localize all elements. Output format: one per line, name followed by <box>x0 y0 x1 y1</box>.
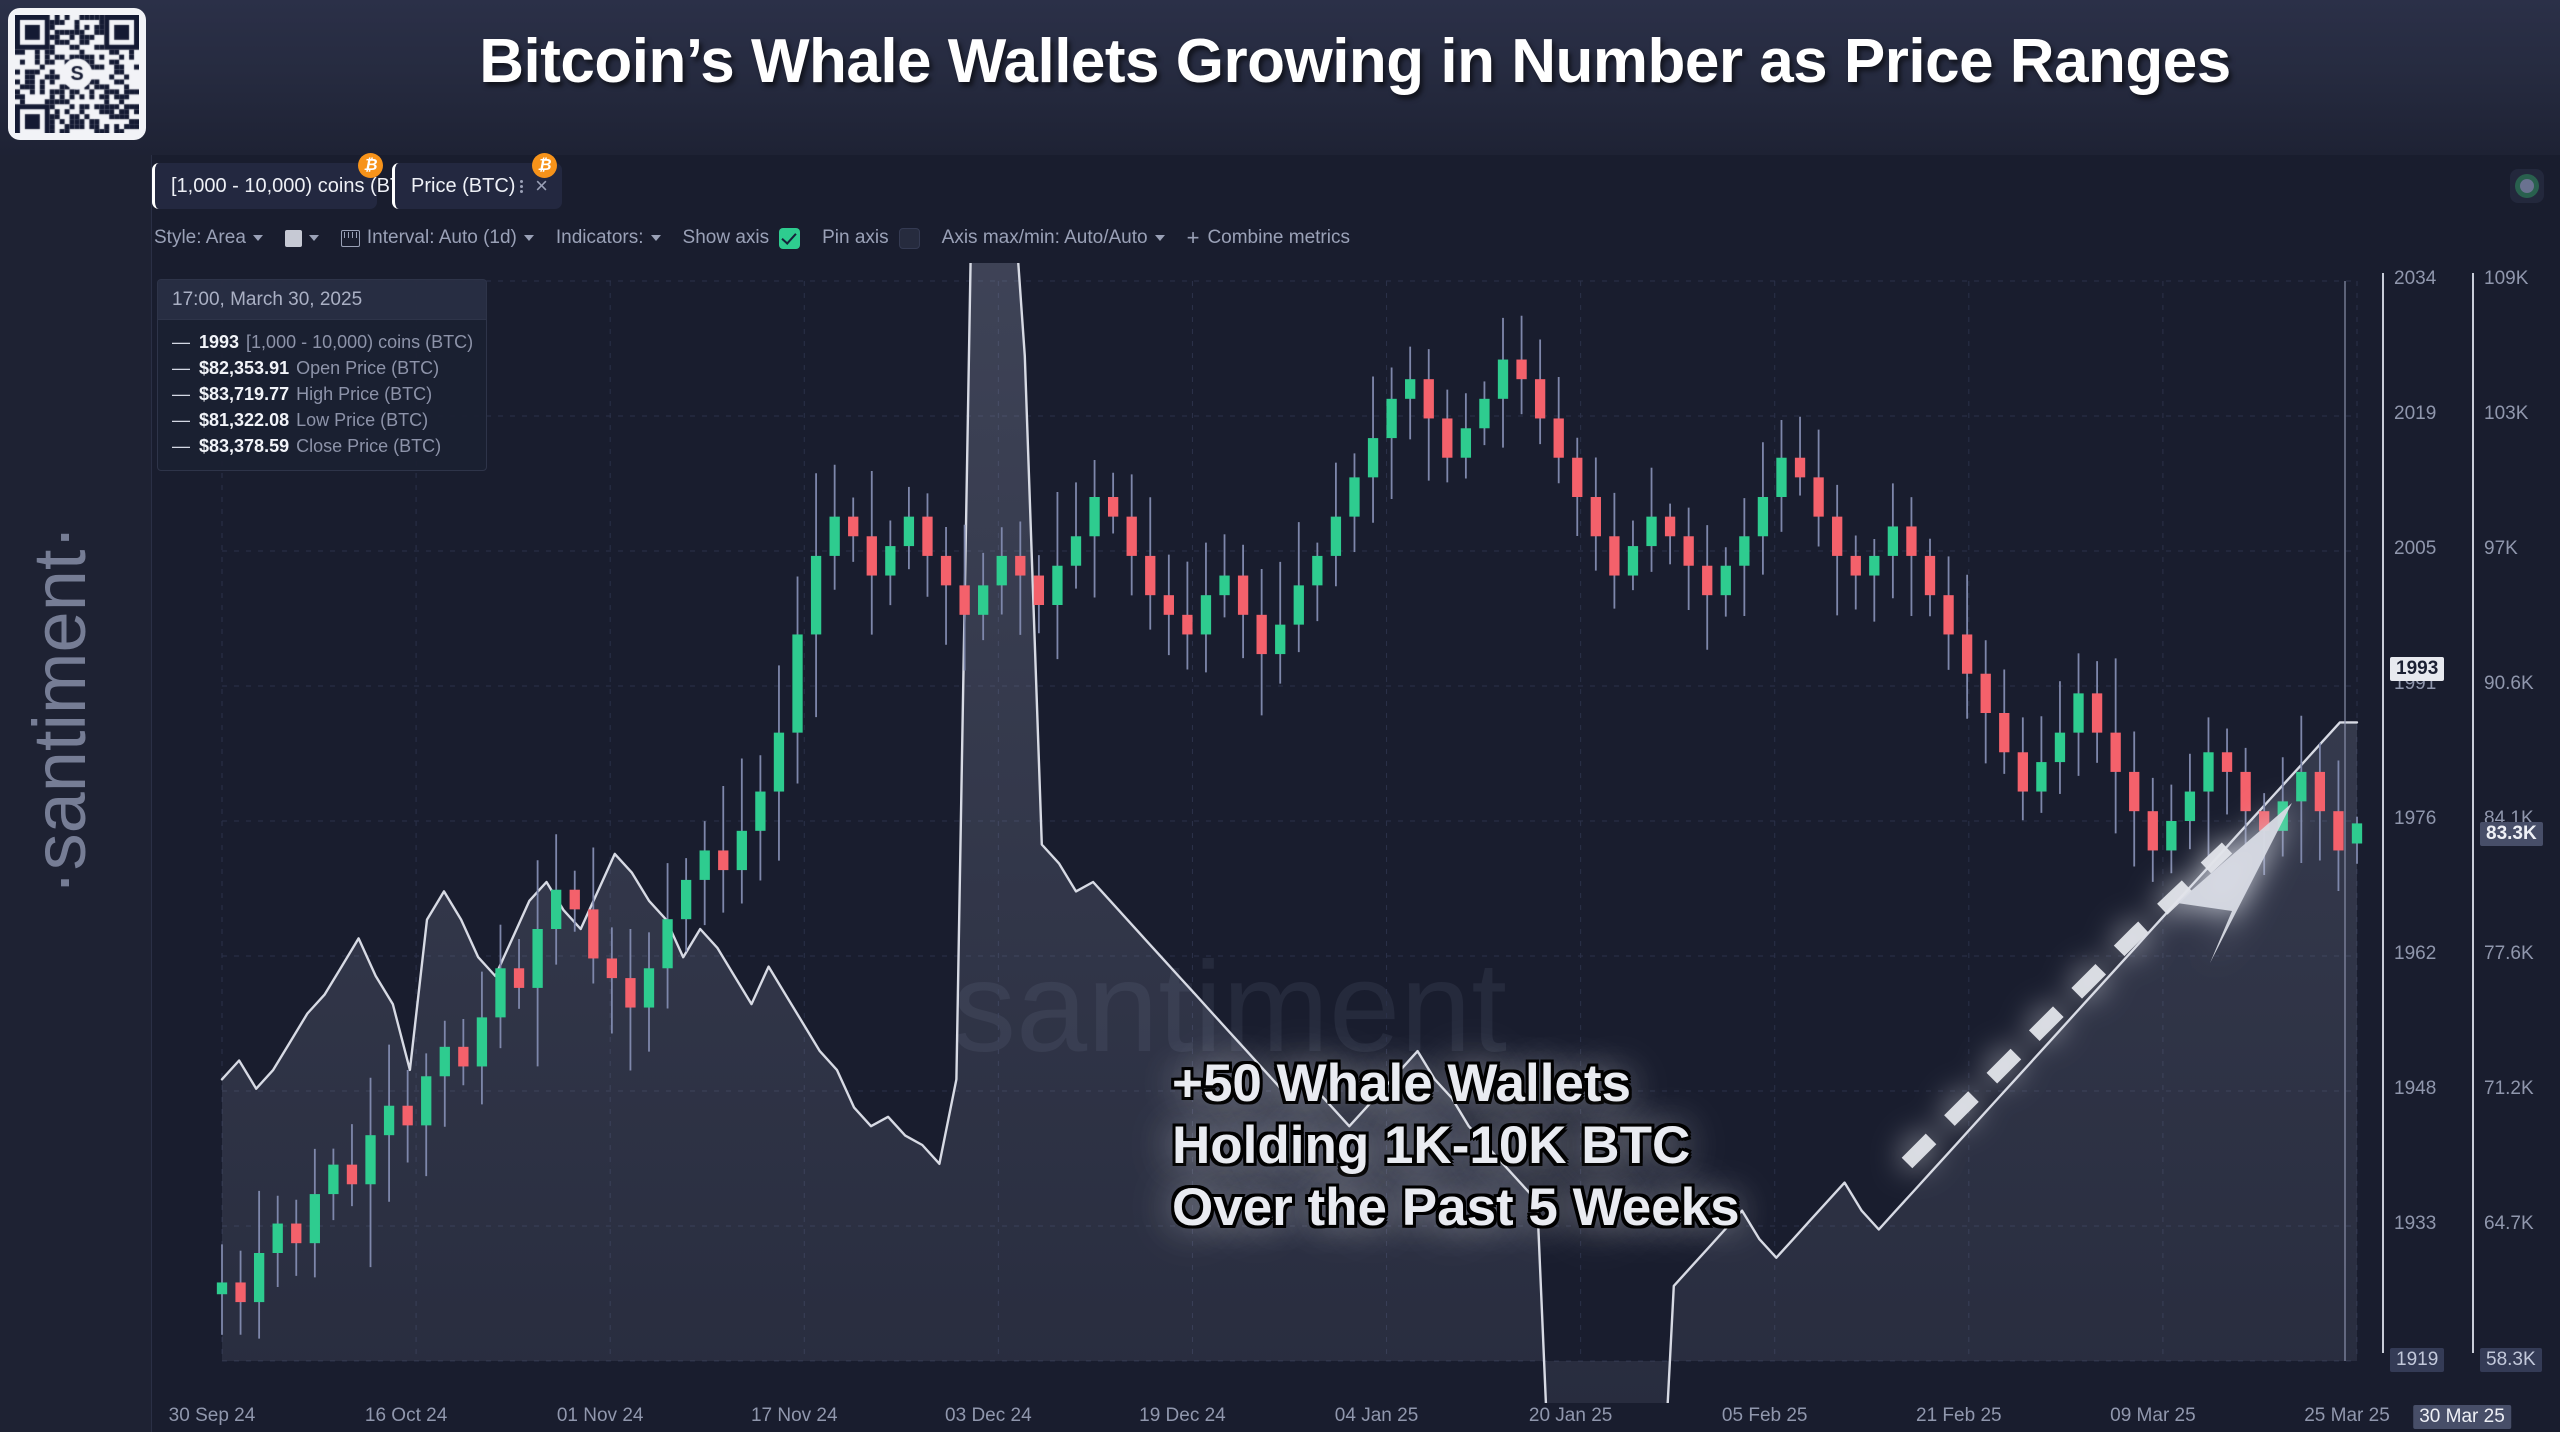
axis-spine <box>2472 273 2474 1353</box>
series-dash-icon: — <box>172 329 190 355</box>
tooltip-label: [1,000 - 10,000) coins (BTC) <box>246 329 473 355</box>
tooltip-value: $83,378.59 <box>199 433 289 459</box>
checkbox-unchecked-icon[interactable] <box>899 228 920 249</box>
axis-tick-label: 01 Nov 24 <box>557 1405 644 1427</box>
chart-area[interactable]: santiment 17:00, March 30, 2025 —1993[1,… <box>152 263 2560 1432</box>
axis-tick-label: 1933 <box>2394 1213 2436 1235</box>
axis-cursor-value: 1993 <box>2390 657 2444 681</box>
axis-tick-label: 1919 <box>2390 1348 2444 1372</box>
record-indicator-icon[interactable] <box>2510 169 2544 203</box>
chart-tooltip: 17:00, March 30, 2025 —1993[1,000 - 10,0… <box>157 279 487 471</box>
axis-tick-label: 30 Sep 24 <box>169 1405 256 1427</box>
checkbox-checked-icon[interactable] <box>779 228 800 249</box>
bitcoin-badge-icon: ₿ <box>532 153 557 178</box>
page-header: Bitcoin’s Whale Wallets Growing in Numbe… <box>0 0 2560 155</box>
axis-tick-label: 77.6K <box>2484 943 2534 965</box>
chevron-down-icon <box>309 235 319 241</box>
indicators-dropdown[interactable]: Indicators: <box>556 227 661 249</box>
plot-svg <box>162 263 2372 1403</box>
page-title: Bitcoin’s Whale Wallets Growing in Numbe… <box>160 22 2550 102</box>
color-dropdown[interactable] <box>285 230 319 247</box>
axis-tick-label: 21 Feb 25 <box>1916 1405 2002 1427</box>
show-axis-toggle[interactable]: Show axis <box>683 227 801 249</box>
tooltip-value: $81,322.08 <box>199 407 289 433</box>
axis-tick-label: 25 Mar 25 <box>2304 1405 2390 1427</box>
tooltip-row: —1993[1,000 - 10,000) coins (BTC) <box>172 329 472 355</box>
axis-tick-label: 04 Jan 25 <box>1335 1405 1418 1427</box>
chevron-down-icon <box>524 235 534 241</box>
y-axis-wallets[interactable]: 2034201920051991197619621948193319191993 <box>2382 263 2470 1403</box>
tooltip-timestamp: 17:00, March 30, 2025 <box>158 280 486 320</box>
show-axis-label: Show axis <box>683 227 770 249</box>
interval-label: Interval: Auto (1d) <box>367 227 517 249</box>
pin-axis-label: Pin axis <box>822 227 889 249</box>
tooltip-label: Close Price (BTC) <box>296 433 441 459</box>
tooltip-value: 1993 <box>199 329 239 355</box>
axis-tick-label: 2005 <box>2394 538 2436 560</box>
combine-metrics-button[interactable]: + Combine metrics <box>1187 225 1350 251</box>
axis-tick-label: 71.2K <box>2484 1078 2534 1100</box>
axis-tick-label: 58.3K <box>2480 1348 2542 1372</box>
axis-tick-label: 1976 <box>2394 808 2436 830</box>
axis-tick-label: 19 Dec 24 <box>1139 1405 1226 1427</box>
tooltip-label: High Price (BTC) <box>296 381 432 407</box>
axis-tick-label: 17 Nov 24 <box>751 1405 838 1427</box>
tooltip-value: $82,353.91 <box>199 355 289 381</box>
bitcoin-badge-icon: ₿ <box>358 153 383 178</box>
axis-tick-label: 1962 <box>2394 943 2436 965</box>
series-dash-icon: — <box>172 355 190 381</box>
chevron-down-icon <box>651 235 661 241</box>
axis-tick-label: 09 Mar 25 <box>2110 1405 2196 1427</box>
chart-panel: [1,000 - 10,000) coins (BTC) × ₿ Price (… <box>152 155 2560 1432</box>
tab-label: [1,000 - 10,000) coins (BTC) <box>171 175 423 198</box>
tooltip-label: Low Price (BTC) <box>296 407 428 433</box>
chart-toolbar: Style: Area Interval: Auto (1d) Indicato… <box>152 217 2560 259</box>
axis-minmax-dropdown[interactable]: Axis max/min: Auto/Auto <box>942 227 1165 249</box>
interval-icon <box>341 230 360 247</box>
axis-tick-label: 1948 <box>2394 1078 2436 1100</box>
style-dropdown[interactable]: Style: Area <box>154 227 263 249</box>
left-rail: ·santiment· <box>0 155 152 1432</box>
indicators-label: Indicators: <box>556 227 644 249</box>
chevron-down-icon <box>1155 235 1165 241</box>
tooltip-row: —$81,322.08Low Price (BTC) <box>172 407 472 433</box>
axis-tick-label: 97K <box>2484 538 2518 560</box>
tab-menu-icon[interactable] <box>515 178 527 195</box>
plot-canvas[interactable] <box>162 263 2372 1432</box>
axis-tick-label: 20 Jan 25 <box>1529 1405 1612 1427</box>
axis-tick-label: 05 Feb 25 <box>1722 1405 1808 1427</box>
rail-watermark: ·santiment· <box>15 500 105 920</box>
axis-tick-label: 103K <box>2484 403 2528 425</box>
tab-wallets-metric[interactable]: [1,000 - 10,000) coins (BTC) × <box>152 163 377 209</box>
axis-minmax-label: Axis max/min: Auto/Auto <box>942 227 1148 249</box>
combine-metrics-label: Combine metrics <box>1207 227 1350 249</box>
axis-tick-label: 64.7K <box>2484 1213 2534 1235</box>
interval-dropdown[interactable]: Interval: Auto (1d) <box>341 227 534 249</box>
x-axis[interactable]: 30 Sep 2416 Oct 2401 Nov 2417 Nov 2403 D… <box>152 1405 2560 1432</box>
chevron-down-icon <box>253 235 263 241</box>
series-dash-icon: — <box>172 407 190 433</box>
tab-label: Price (BTC) <box>411 175 515 198</box>
series-dash-icon: — <box>172 381 190 407</box>
axis-tick-label: 03 Dec 24 <box>945 1405 1032 1427</box>
tooltip-row: —$83,378.59Close Price (BTC) <box>172 433 472 459</box>
axis-tick-label: 2034 <box>2394 268 2436 290</box>
axis-tick-label: 109K <box>2484 268 2528 290</box>
tooltip-row: —$82,353.91Open Price (BTC) <box>172 355 472 381</box>
axis-cursor-value: 83.3K <box>2480 822 2543 846</box>
pin-axis-toggle[interactable]: Pin axis <box>822 227 920 249</box>
tooltip-value: $83,719.77 <box>199 381 289 407</box>
axis-tick-label: 2019 <box>2394 403 2436 425</box>
axis-spine <box>2382 273 2384 1353</box>
axis-tick-label: 16 Oct 24 <box>365 1405 447 1427</box>
series-dash-icon: — <box>172 433 190 459</box>
axis-cursor-date: 30 Mar 25 <box>2413 1405 2511 1429</box>
tooltip-row: —$83,719.77High Price (BTC) <box>172 381 472 407</box>
metric-tab-bar: [1,000 - 10,000) coins (BTC) × ₿ Price (… <box>152 155 2560 217</box>
tooltip-label: Open Price (BTC) <box>296 355 439 381</box>
color-swatch-icon <box>285 230 302 247</box>
qr-code[interactable] <box>8 8 146 140</box>
tooltip-rows: —1993[1,000 - 10,000) coins (BTC)—$82,35… <box>158 320 486 470</box>
qr-code-canvas <box>15 15 139 133</box>
axis-tick-label: 90.6K <box>2484 673 2534 695</box>
plus-icon: + <box>1187 225 1200 251</box>
style-label: Style: Area <box>154 227 246 249</box>
y-axis-price[interactable]: 109K103K97K90.6K84.1K77.6K71.2K64.7K58.3… <box>2472 263 2560 1403</box>
app-body: ·santiment· [1,000 - 10,000) coins (BTC)… <box>0 155 2560 1432</box>
